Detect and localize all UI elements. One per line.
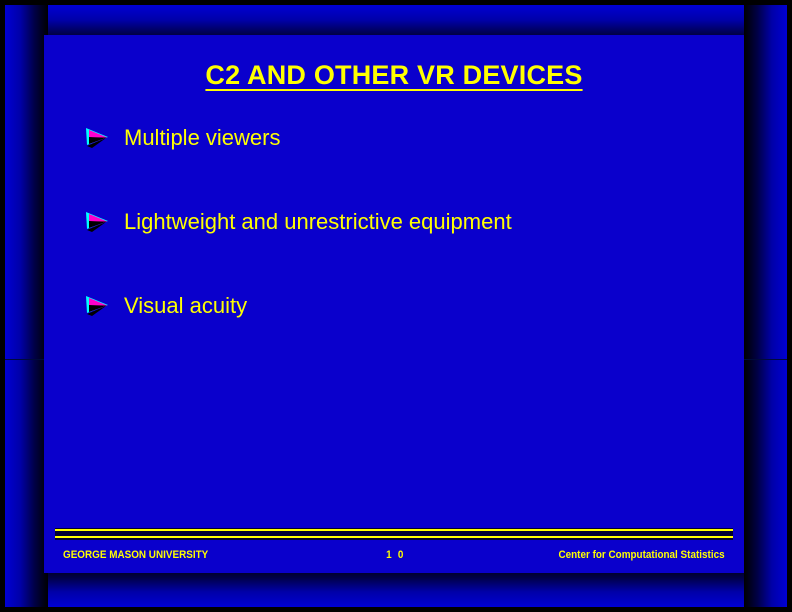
slide-title: C2 AND OTHER VR DEVICES <box>44 60 744 91</box>
footer-institution: GEORGE MASON UNIVERSITY <box>63 549 208 561</box>
bullet-item-1: Multiple viewers <box>84 123 724 153</box>
bullet-item-3: Visual acuity <box>84 291 724 321</box>
footer-center-name: Center for Computational Statistics <box>559 549 725 561</box>
frame-glow-left <box>0 0 48 612</box>
slide-footer: GEORGE MASON UNIVERSITY 1 0 Center for C… <box>55 543 733 569</box>
arrowhead-bullet-icon <box>84 210 110 234</box>
footer-divider <box>55 528 733 540</box>
slide-content-area: C2 AND OTHER VR DEVICES Multiple viewers <box>44 35 744 573</box>
bullet-item-label: Visual acuity <box>124 293 247 319</box>
footer-page-number: 1 0 <box>386 549 405 561</box>
bullet-item-label: Multiple viewers <box>124 125 281 151</box>
footer-divider-line-top <box>55 529 733 531</box>
footer-divider-line-bottom <box>55 536 733 538</box>
arrowhead-bullet-icon <box>84 126 110 150</box>
arrowhead-bullet-icon <box>84 294 110 318</box>
bullet-item-2: Lightweight and unrestrictive equipment <box>84 207 724 237</box>
bullet-item-label: Lightweight and unrestrictive equipment <box>124 209 512 235</box>
frame-glow-right <box>744 0 792 612</box>
bullet-list: Multiple viewers Lightweight and unrestr… <box>84 123 724 375</box>
presentation-slide-frame: C2 AND OTHER VR DEVICES Multiple viewers <box>0 0 792 612</box>
